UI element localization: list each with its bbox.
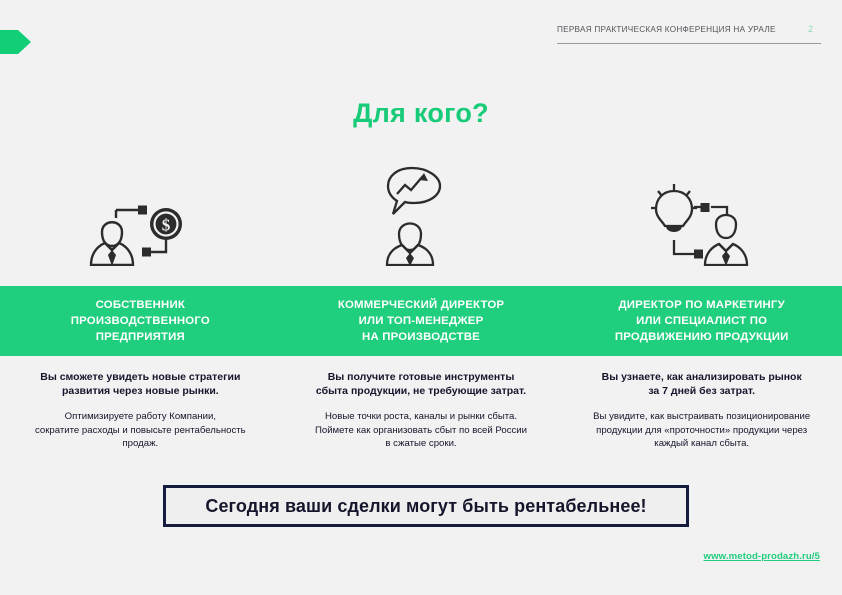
cta-text: Сегодня ваши сделки могут быть рентабель… [205, 496, 646, 517]
businessman-with-growth-chart-bubble-icon [378, 162, 464, 266]
header-row: ПЕРВАЯ ПРАКТИЧЕСКАЯ КОНФЕРЕНЦИЯ НА УРАЛЕ… [557, 24, 821, 38]
description-heading: Вы сможете увидеть новые стратегии разви… [10, 370, 271, 398]
node-square-bottom [142, 248, 151, 257]
description-body: Новые точки роста, каналы и рынки сбыта.… [291, 410, 552, 451]
description-cell-marketing-director: Вы узнаете, как анализировать рынок за 7… [561, 370, 842, 451]
role-label-marketing-director: ДИРЕКТОР ПО МАРКЕТИНГУ ИЛИ СПЕЦИАЛИСТ ПО… [561, 286, 842, 356]
description-body: Оптимизируете работу Компании, сократите… [10, 410, 271, 451]
businessman-with-dollar-coin-icon: $ [88, 188, 192, 266]
description-heading: Вы узнаете, как анализировать рынок за 7… [571, 370, 832, 398]
description-cell-owner: Вы сможете увидеть новые стратегии разви… [0, 370, 281, 451]
description-cell-commercial-director: Вы получите готовые инструменты сбыта пр… [281, 370, 562, 451]
description-row: Вы сможете увидеть новые стратегии разви… [0, 370, 842, 451]
node-square-top [138, 206, 147, 215]
header-divider [557, 43, 821, 44]
corner-chevron-icon [0, 30, 31, 54]
role-label-commercial-director: КОММЕРЧЕСКИЙ ДИРЕКТОР ИЛИ ТОП-МЕНЕДЖЕР Н… [281, 286, 562, 356]
node-square-right [700, 203, 709, 212]
icon-cell-commercial-director [281, 150, 562, 270]
svg-text:$: $ [162, 216, 171, 235]
page-number: 2 [808, 24, 821, 34]
footer-website-link[interactable]: www.metod-prodazh.ru/5 [704, 551, 820, 562]
slide-root: ПЕРВАЯ ПРАКТИЧЕСКАЯ КОНФЕРЕНЦИЯ НА УРАЛЕ… [0, 0, 842, 595]
conference-title: ПЕРВАЯ ПРАКТИЧЕСКАЯ КОНФЕРЕНЦИЯ НА УРАЛЕ [557, 25, 776, 34]
slide-header: ПЕРВАЯ ПРАКТИЧЕСКАЯ КОНФЕРЕНЦИЯ НА УРАЛЕ… [557, 24, 821, 44]
cta-box: Сегодня ваши сделки могут быть рентабель… [163, 485, 689, 527]
role-band: СОБСТВЕННИК ПРОИЗВОДСТВЕННОГО ПРЕДПРИЯТИ… [0, 286, 842, 356]
lightbulb-with-businessman-icon [647, 182, 757, 266]
icon-cell-marketing-director [561, 150, 842, 270]
icon-cell-owner: $ [0, 150, 281, 270]
page-title: Для кого? [0, 98, 842, 129]
node-square-bottom [694, 250, 703, 259]
icon-row: $ [0, 150, 842, 270]
description-heading: Вы получите готовые инструменты сбыта пр… [291, 370, 552, 398]
description-body: Вы увидите, как выстраивать позициониров… [571, 410, 832, 451]
role-label-owner: СОБСТВЕННИК ПРОИЗВОДСТВЕННОГО ПРЕДПРИЯТИ… [0, 286, 281, 356]
